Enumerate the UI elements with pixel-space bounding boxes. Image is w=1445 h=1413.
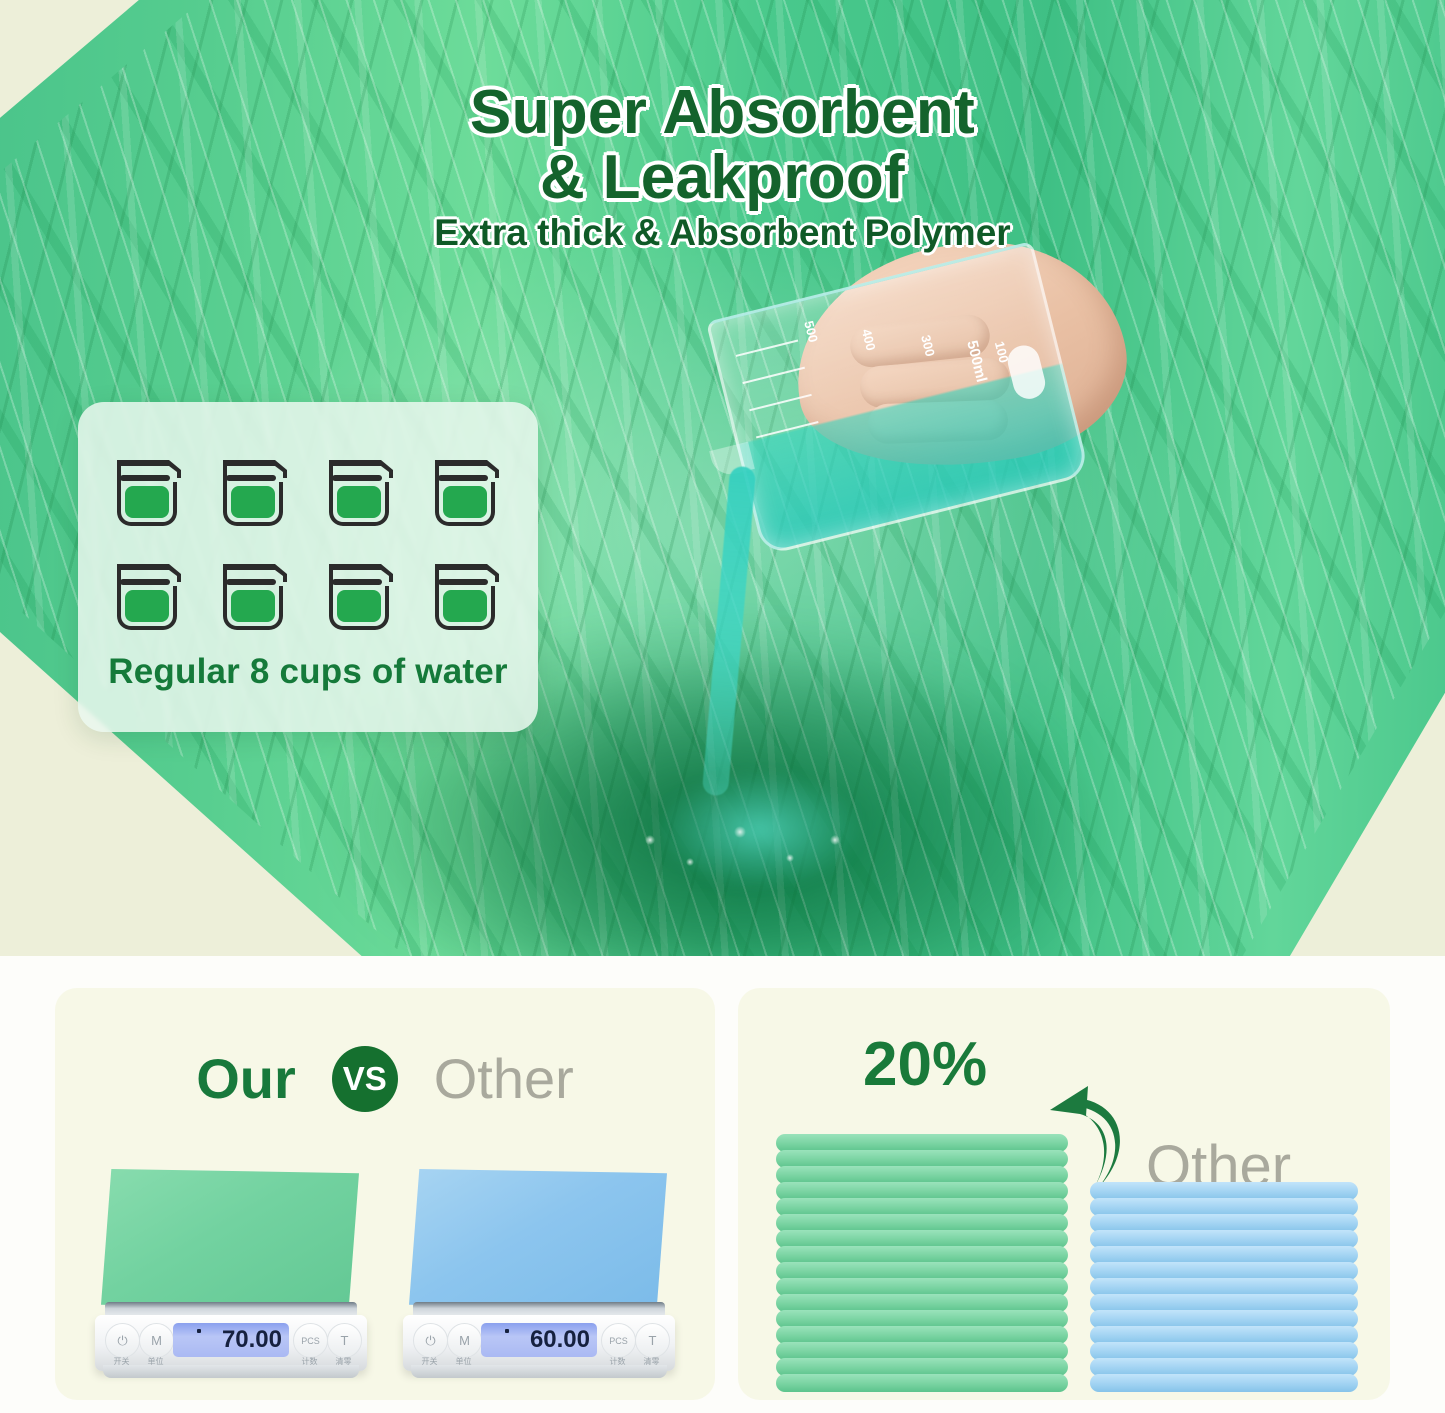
scale-reading-other: 60.00 xyxy=(530,1326,590,1354)
glass-beaker: 500 400 300 100 500ml xyxy=(706,241,1090,556)
beaker-mark-400: 400 xyxy=(859,327,879,352)
mode-button[interactable]: M xyxy=(139,1323,174,1358)
scale-console: ⏻ 开关 M 单位 70.00 PCS 计数 T 清零 xyxy=(95,1315,367,1371)
title-line-1: Super Absorbent xyxy=(470,78,975,147)
tare-button[interactable]: T xyxy=(635,1323,670,1358)
cups-grid xyxy=(107,448,509,636)
power-button[interactable]: ⏻ xyxy=(413,1323,448,1358)
scale-console: ⏻ 开关 M 单位 60.00 PCS 计数 T 清零 xyxy=(403,1315,675,1371)
our-pad xyxy=(101,1169,359,1309)
beaker-cup-icon xyxy=(213,552,297,636)
lcd-indicator-dot xyxy=(197,1329,201,1333)
pad-layer xyxy=(776,1374,1068,1392)
other-label: Other xyxy=(434,1051,574,1107)
mode-button[interactable]: M xyxy=(447,1323,482,1358)
pouring-beaker-group: 500 400 300 100 500ml xyxy=(700,250,1120,950)
scale-other: ⏻ 开关 M 单位 60.00 PCS 计数 T 清零 xyxy=(403,1169,675,1384)
beaker-volume-label: 500ml xyxy=(964,339,991,384)
cups-badge-label: Regular 8 cups of water xyxy=(108,652,507,692)
comparison-header: Our VS Other xyxy=(55,1046,715,1112)
other-pad xyxy=(409,1169,667,1309)
pcs-button[interactable]: PCS xyxy=(293,1323,328,1358)
our-label: Our xyxy=(196,1051,296,1107)
power-button[interactable]: ⏻ xyxy=(105,1323,140,1358)
product-infographic: 500 400 300 100 500ml Super Absorbent & … xyxy=(0,0,1445,1413)
percent-label: 20% xyxy=(863,1034,987,1096)
hero-section: 500 400 300 100 500ml Super Absorbent & … xyxy=(0,0,1445,956)
scale-base xyxy=(411,1365,667,1378)
scale-our: ⏻ 开关 M 单位 70.00 PCS 计数 T 清零 xyxy=(95,1169,367,1384)
vs-badge: VS xyxy=(332,1046,398,1112)
beaker-cup-icon xyxy=(213,448,297,532)
beaker-cup-icon xyxy=(107,552,191,636)
beaker-graduation xyxy=(749,394,812,411)
scale-reading-our: 70.00 xyxy=(222,1326,282,1354)
pad-layer xyxy=(1090,1374,1358,1392)
scale-display-other: 60.00 xyxy=(481,1323,597,1357)
cups-badge-card: Regular 8 cups of water xyxy=(78,402,538,732)
tare-button[interactable]: T xyxy=(327,1323,362,1358)
water-bubbles xyxy=(630,810,890,890)
our-pad-stack xyxy=(776,1136,1068,1392)
page-title: Super Absorbent & Leakproof xyxy=(0,80,1445,211)
beaker-mark-500: 500 xyxy=(801,319,821,344)
beaker-graduation xyxy=(742,367,805,384)
lcd-indicator-dot xyxy=(505,1329,509,1333)
other-pad-stack xyxy=(1090,1184,1358,1392)
beaker-graduation xyxy=(736,340,799,357)
pcs-button[interactable]: PCS xyxy=(601,1323,636,1358)
beaker-cup-icon xyxy=(319,552,403,636)
bottom-section: Our VS Other ⏻ 开关 M 单位 70.00 PCS xyxy=(0,956,1445,1413)
water-stream xyxy=(702,465,757,796)
thickness-comparison-card: 20% Other xyxy=(738,988,1390,1400)
beaker-graduation xyxy=(756,421,819,438)
beaker-cup-icon xyxy=(425,552,509,636)
beaker-cup-icon xyxy=(319,448,403,532)
scale-display-our: 70.00 xyxy=(173,1323,289,1357)
page-subtitle: Extra thick & Absorbent Polymer xyxy=(0,212,1445,254)
beaker-mark-300: 300 xyxy=(918,333,938,358)
beaker-cup-icon xyxy=(107,448,191,532)
beaker-sticker xyxy=(1004,342,1048,402)
weight-comparison-card: Our VS Other ⏻ 开关 M 单位 70.00 PCS xyxy=(55,988,715,1400)
title-line-2: & Leakproof xyxy=(540,143,905,212)
beaker-cup-icon xyxy=(425,448,509,532)
scale-base xyxy=(103,1365,359,1378)
